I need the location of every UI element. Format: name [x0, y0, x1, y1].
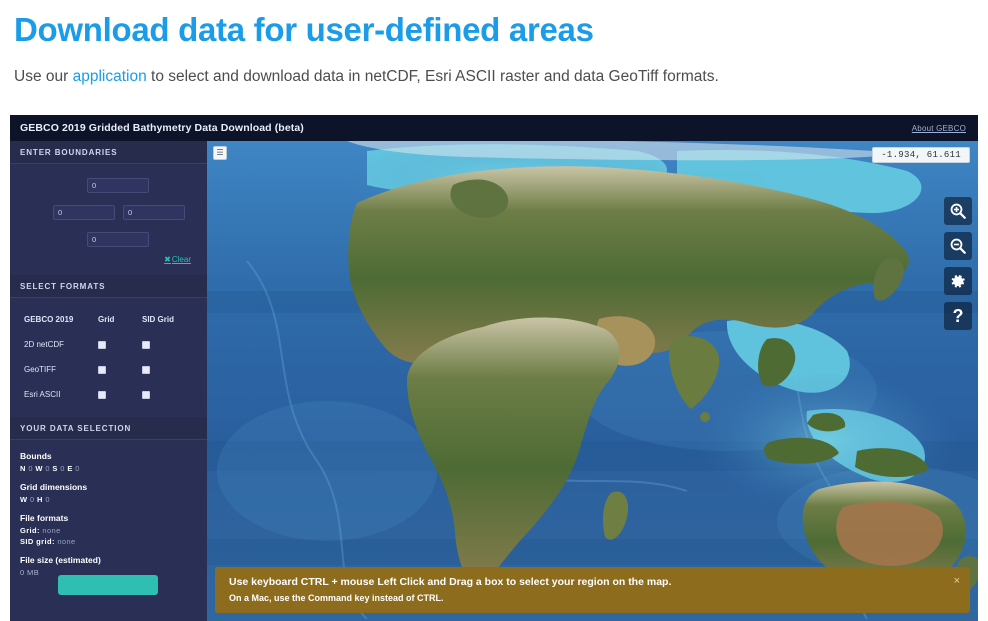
help-question-icon: ? — [953, 307, 964, 325]
file-formats-heading: File formats — [20, 513, 197, 523]
bathymetry-world-map[interactable] — [207, 141, 978, 621]
checkbox-geotiff-sid-grid[interactable] — [142, 366, 150, 374]
bounds-e-value: 0 — [75, 464, 80, 473]
boundaries-inputs: 0 0 0 0 ✖Clear — [20, 173, 197, 265]
west-bound-input[interactable]: 0 — [53, 205, 115, 220]
dims-h-value: 0 — [45, 495, 50, 504]
east-bound-input[interactable]: 0 — [123, 205, 185, 220]
panel-enter-boundaries: ENTER BOUNDARIES 0 0 0 0 ✖Clear — [10, 141, 207, 275]
bounds-n-key: N — [20, 464, 26, 473]
about-gebco-link[interactable]: About GEBCO — [912, 124, 966, 133]
clear-label: Clear — [172, 255, 191, 264]
map-controls: ? — [944, 197, 972, 330]
north-bound-input[interactable]: 0 — [87, 178, 149, 193]
zoom-out-icon — [949, 237, 967, 255]
zoom-in-icon — [949, 202, 967, 220]
bounds-w-key: W — [35, 464, 42, 473]
dims-w-value: 0 — [30, 495, 35, 504]
checkbox-netcdf-grid[interactable] — [98, 341, 106, 349]
checkbox-geotiff-grid[interactable] — [98, 366, 106, 374]
add-to-basket-button[interactable] — [58, 575, 158, 595]
dims-h-key: H — [37, 495, 43, 504]
format-label-geotiff: GeoTIFF — [20, 357, 98, 382]
bounds-value: N 0 W 0 S 0 E 0 — [20, 464, 197, 473]
panel-title-boundaries: ENTER BOUNDARIES — [10, 141, 207, 164]
grid-key: Grid: — [20, 526, 40, 535]
landmass-sri-lanka — [700, 412, 710, 422]
table-row: 2D netCDF — [20, 332, 197, 357]
zoom-out-button[interactable] — [944, 232, 972, 260]
sidebar: ENTER BOUNDARIES 0 0 0 0 ✖Clear SELECT F… — [10, 141, 207, 621]
south-bound-input[interactable]: 0 — [87, 232, 149, 247]
app-title: GEBCO 2019 Gridded Bathymetry Data Downl… — [20, 122, 304, 134]
panel-select-formats: SELECT FORMATS GEBCO 2019 Grid SID Grid — [10, 275, 207, 417]
app-body: ENTER BOUNDARIES 0 0 0 0 ✖Clear SELECT F… — [10, 141, 978, 621]
bounds-s-key: S — [52, 464, 57, 473]
checkbox-esri-sid-grid[interactable] — [142, 391, 150, 399]
page-header: Download data for user-defined areas Use… — [0, 0, 988, 86]
settings-button[interactable] — [944, 267, 972, 295]
file-size-heading: File size (estimated) — [20, 555, 197, 565]
formats-header-row: GEBCO 2019 Grid SID Grid — [20, 307, 197, 332]
formats-col-sid-grid: SID Grid — [142, 307, 197, 332]
grid-dimensions-heading: Grid dimensions — [20, 482, 197, 492]
page-subtitle: Use our application to select and downlo… — [14, 68, 974, 86]
grid-value: none — [42, 526, 60, 535]
coordinate-readout: -1.934, 61.611 — [872, 147, 970, 163]
formats-col-product: GEBCO 2019 — [20, 307, 98, 332]
bounds-e-key: E — [67, 464, 72, 473]
close-x-icon: ✖ — [164, 255, 171, 264]
format-label-esri-ascii: Esri ASCII — [20, 382, 98, 407]
notification-line-1: Use keyboard CTRL + mouse Left Click and… — [229, 576, 958, 588]
sid-value: none — [57, 537, 75, 546]
bounds-w-value: 0 — [45, 464, 50, 473]
formats-col-grid: Grid — [98, 307, 142, 332]
notification-line-2: On a Mac, use the Command key instead of… — [229, 593, 958, 603]
application-link[interactable]: application — [73, 68, 147, 85]
grid-dimensions-value: W 0 H 0 — [20, 495, 197, 504]
table-row: GeoTIFF — [20, 357, 197, 382]
clear-boundaries-button[interactable]: ✖Clear — [164, 255, 191, 264]
format-label-netcdf: 2D netCDF — [20, 332, 98, 357]
table-row: Esri ASCII — [20, 382, 197, 407]
bounds-heading: Bounds — [20, 451, 197, 461]
app-titlebar: GEBCO 2019 Gridded Bathymetry Data Downl… — [10, 115, 978, 141]
bounds-n-value: 0 — [28, 464, 33, 473]
help-button[interactable]: ? — [944, 302, 972, 330]
checkbox-esri-grid[interactable] — [98, 391, 106, 399]
file-format-sid-grid: SID grid: none — [20, 537, 197, 546]
panel-title-formats: SELECT FORMATS — [10, 275, 207, 298]
panel-title-selection: YOUR DATA SELECTION — [10, 417, 207, 440]
checkbox-netcdf-sid-grid[interactable] — [142, 341, 150, 349]
subtitle-text-pre: Use our — [14, 68, 73, 85]
map-viewport[interactable]: ☰ -1.934, 61.611 — [207, 141, 978, 621]
notification-close-button[interactable]: × — [954, 575, 960, 587]
dims-w-key: W — [20, 495, 27, 504]
gebco-app-window: GEBCO 2019 Gridded Bathymetry Data Downl… — [10, 115, 978, 621]
zoom-in-button[interactable] — [944, 197, 972, 225]
layers-icon[interactable]: ☰ — [213, 146, 227, 160]
panel-your-data-selection: YOUR DATA SELECTION Bounds N 0 W 0 S 0 E… — [10, 417, 207, 589]
file-format-grid: Grid: none — [20, 526, 197, 535]
sid-key: SID grid: — [20, 537, 55, 546]
page-title: Download data for user-defined areas — [14, 12, 974, 48]
map-notification: Use keyboard CTRL + mouse Left Click and… — [215, 567, 970, 613]
bounds-s-value: 0 — [60, 464, 65, 473]
subtitle-text-post: to select and download data in netCDF, E… — [147, 68, 719, 85]
formats-table: GEBCO 2019 Grid SID Grid 2D netCDF — [20, 307, 197, 407]
settings-gear-icon — [950, 273, 967, 290]
